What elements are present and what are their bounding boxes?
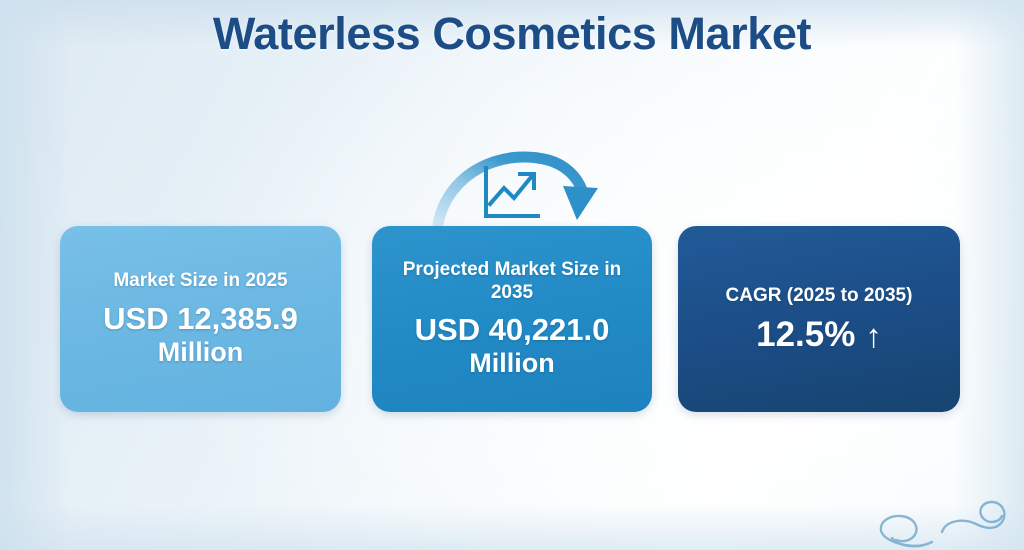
page-title: Waterless Cosmetics Market [0,8,1024,60]
metric-card-cagr: CAGR (2025 to 2035) 12.5% ↑ [678,226,960,412]
metric-card-market-size-2025: Market Size in 2025 USD 12,385.9 Million [60,226,341,412]
card-value-amount: USD 40,221.0 [415,312,610,347]
line-chart-up-icon [486,168,538,216]
growth-arrow-chart-icon [432,146,612,232]
infographic-canvas: Waterless Cosmetics Market Market Size i… [0,0,1024,550]
decorative-swirl [824,486,1024,550]
background-edge-right [954,0,1024,550]
card-value: USD 40,221.0 Million [415,313,610,380]
arrow-up-icon: ↑ [865,319,882,352]
card-value-amount: USD 12,385.9 [103,301,298,336]
card-label: Projected Market Size in 2035 [386,258,638,304]
metric-cards: Market Size in 2025 USD 12,385.9 Million… [60,226,960,412]
card-value-unit: Million [415,347,610,380]
card-value-amount: 12.5% [756,316,855,355]
metric-card-projected-market-size-2035: Projected Market Size in 2035 USD 40,221… [372,226,652,412]
card-value: 12.5% ↑ [756,316,882,355]
card-value-unit: Million [103,336,298,369]
card-label: Market Size in 2025 [113,269,287,292]
card-value: USD 12,385.9 Million [103,302,298,369]
card-label: CAGR (2025 to 2035) [726,284,913,307]
